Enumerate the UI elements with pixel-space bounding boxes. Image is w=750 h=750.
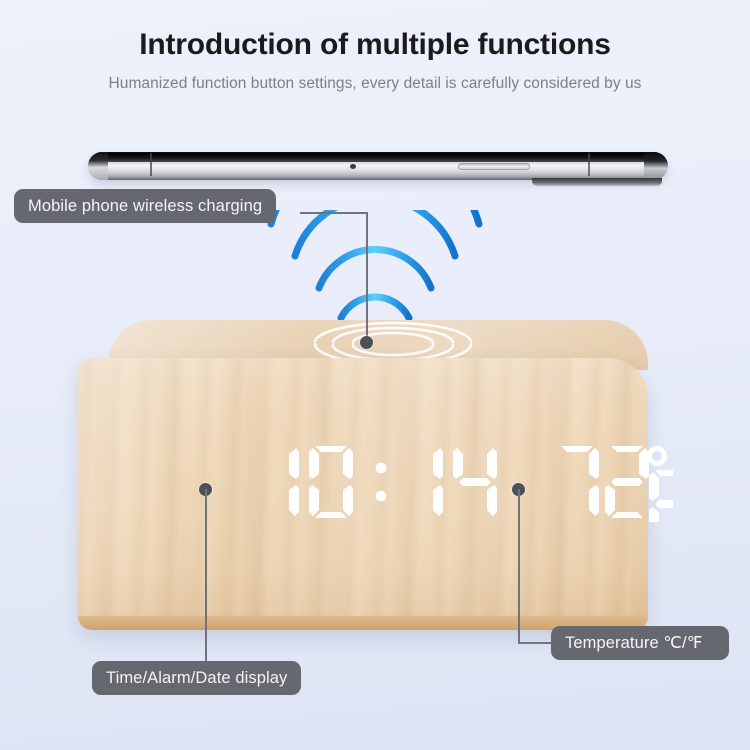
leader-line-temperature-vertical [518, 489, 520, 643]
smartphone-side-profile [88, 148, 668, 190]
page-subtitle: Humanized function button settings, ever… [0, 75, 750, 93]
leader-line-charging-vertical [366, 212, 368, 342]
page-title: Introduction of multiple functions [0, 28, 750, 62]
callout-badge-wireless-charging[interactable]: Mobile phone wireless charging [14, 189, 276, 223]
phone-glass-edge [94, 153, 662, 162]
callout-badge-temperature[interactable]: Temperature ℃/℉ [551, 626, 729, 660]
wooden-alarm-clock [78, 320, 648, 630]
phone-side-button [458, 163, 530, 170]
callout-label-time-display: Time/Alarm/Date display [106, 669, 287, 688]
callout-label-temperature: Temperature ℃/℉ [565, 633, 703, 653]
led-display [253, 444, 673, 522]
phone-antenna-seam-right [588, 153, 590, 176]
phone-left-cap [88, 152, 108, 180]
callout-badge-time-display[interactable]: Time/Alarm/Date display [92, 661, 301, 695]
phone-microphone-hole [350, 164, 356, 169]
leader-line-charging-horizontal [300, 212, 368, 214]
leader-dot-charging-coil [360, 336, 373, 349]
callout-label-wireless-charging: Mobile phone wireless charging [28, 197, 262, 216]
leader-line-time-display [205, 489, 207, 663]
phone-antenna-seam-left [150, 153, 152, 176]
header: Introduction of multiple functions Human… [0, 0, 750, 93]
phone-right-cap [644, 152, 668, 180]
phone-camera-bump [532, 178, 662, 186]
